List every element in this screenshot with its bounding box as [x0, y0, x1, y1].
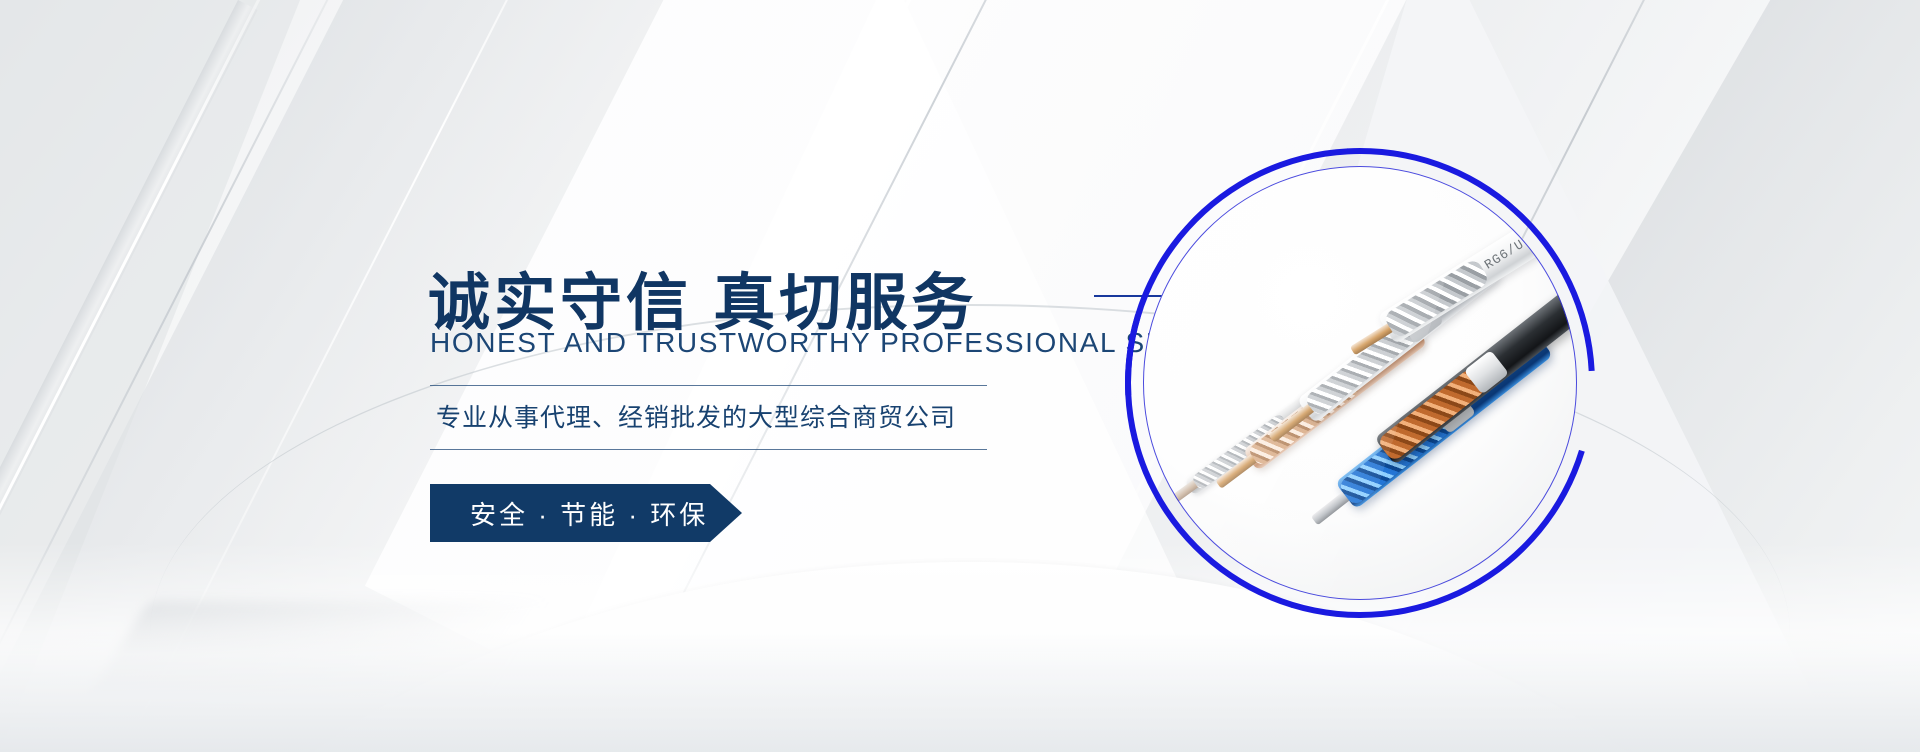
feature-tag-label: 安全 · 节能 · 环保: [470, 495, 708, 532]
hero-banner: 诚实守信 真切服务 HONEST AND TRUSTWORTHY PROFESS…: [0, 0, 1920, 752]
divider-top: [430, 385, 987, 386]
product-circle: RG6/U 75Ω: [1125, 148, 1595, 618]
divider-bottom: [430, 449, 987, 450]
feature-tag-chevron[interactable]: 安全 · 节能 · 环保: [430, 484, 742, 542]
banner-content: 诚实守信 真切服务 HONEST AND TRUSTWORTHY PROFESS…: [0, 0, 1920, 752]
product-photo: RG6/U 75Ω: [1143, 166, 1577, 600]
subtitle-chinese: 专业从事代理、经销批发的大型综合商贸公司: [436, 398, 956, 434]
